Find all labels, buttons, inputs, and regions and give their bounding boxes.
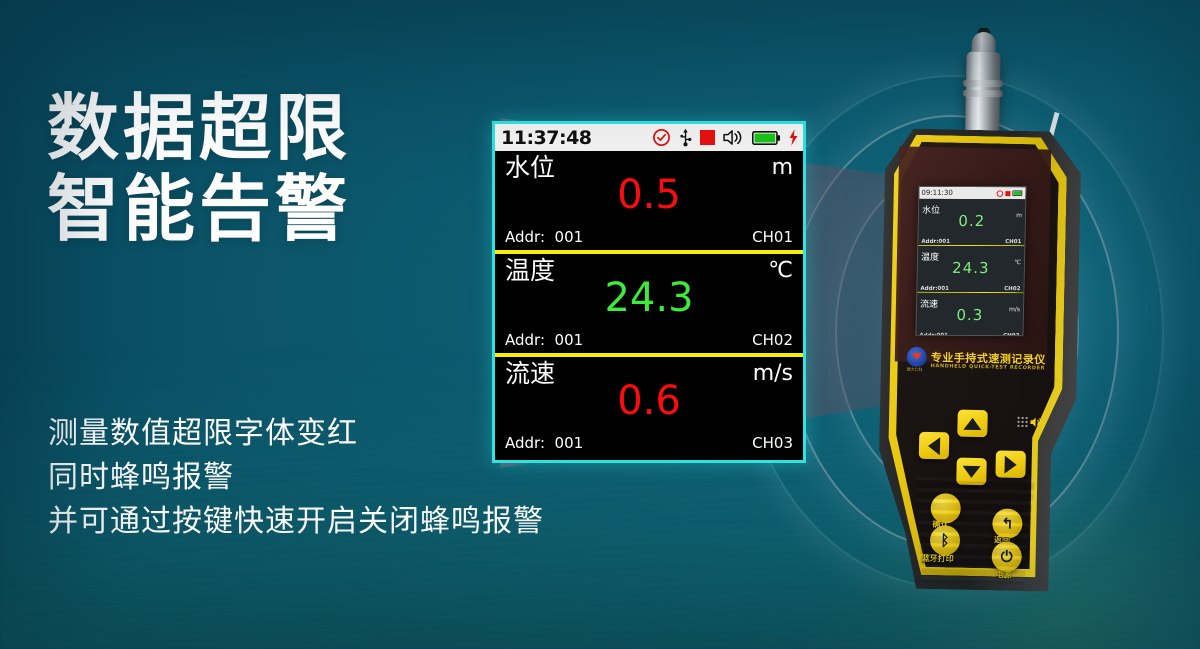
marketing-banner: 数据超限 智能告警 测量数值超限字体变红 同时蜂鸣报警 并可通过按键快速开启关闭… xyxy=(0,0,1200,649)
vignette-overlay xyxy=(0,0,1200,649)
